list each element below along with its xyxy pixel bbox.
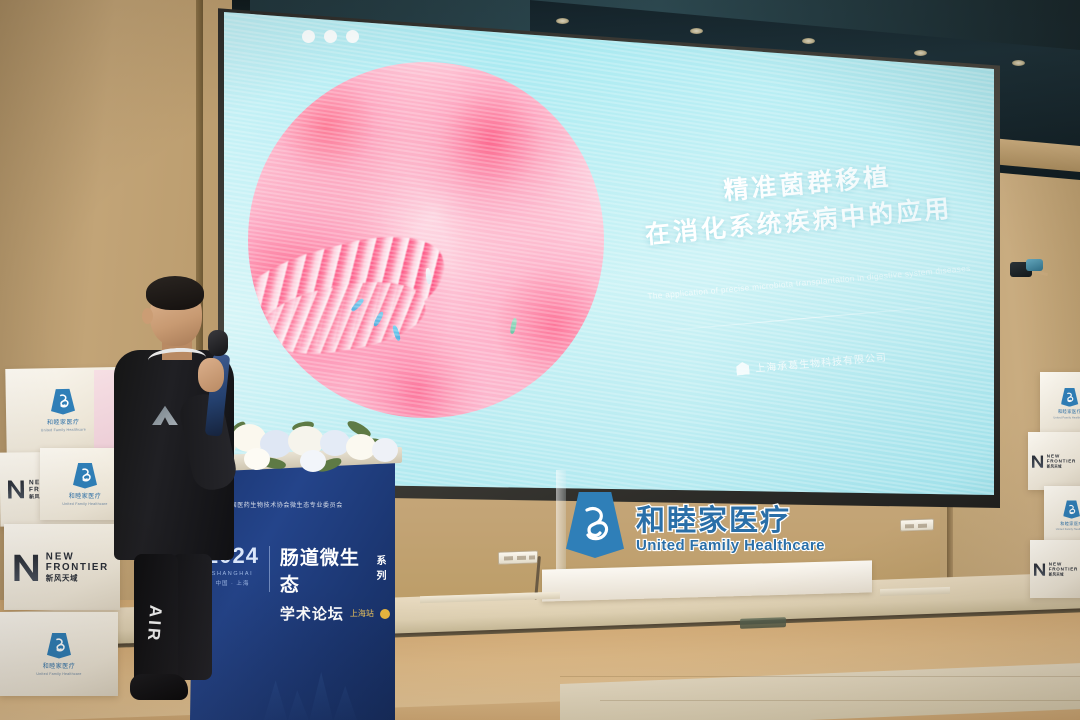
united-family-box-label: 和睦家医疗 United Family Healthcare xyxy=(36,633,81,676)
wall-outlet-icon[interactable] xyxy=(900,518,934,531)
new-frontier-box-label: NEW FRONTIER 新风天域 xyxy=(1032,454,1076,469)
ceiling-downlight-icon xyxy=(1012,60,1025,66)
box-line3: 新风天域 xyxy=(1047,463,1076,468)
new-frontier-n-icon xyxy=(15,554,39,581)
united-family-fan-icon xyxy=(51,388,75,414)
box-line2: FRONTIER xyxy=(46,562,109,573)
united-family-signage: 和睦家医疗 United Family Healthcare xyxy=(566,492,825,558)
presenter-hand xyxy=(198,358,224,392)
ceiling-downlight-icon xyxy=(690,28,703,34)
podium-divider xyxy=(269,546,270,592)
new-frontier-n-icon xyxy=(1034,563,1045,576)
product-box: 和睦家医疗 United Family Healthcare xyxy=(0,612,118,696)
flower-shape xyxy=(372,438,398,462)
box-title-cn: 和睦家医疗 xyxy=(1058,408,1080,414)
podium-accent-dot xyxy=(380,609,390,619)
ceiling-downlight-icon xyxy=(556,18,569,24)
box-line1: NEW xyxy=(46,551,109,562)
united-family-fan-icon xyxy=(1064,500,1080,518)
united-family-fan-icon xyxy=(566,492,624,558)
box-title-cn: 和睦家医疗 xyxy=(69,491,102,500)
signage-text: 和睦家医疗 United Family Healthcare xyxy=(636,497,825,554)
flower-shape xyxy=(300,450,326,472)
product-box: 和睦家医疗 United Family Healthcare xyxy=(1044,486,1080,544)
product-box: NEW FRONTIER 新风天域 xyxy=(4,524,120,610)
podium-skyline-graphic xyxy=(254,651,374,720)
new-frontier-box-label: NEW FRONTIER 新风天域 xyxy=(15,551,110,583)
box-title-en: United Family Healthcare xyxy=(1056,527,1080,530)
floor-seam xyxy=(560,676,1080,677)
podium-forum-suffix: 系列 xyxy=(376,552,395,582)
signage-title-en: United Family Healthcare xyxy=(636,537,825,554)
product-box: 和睦家医疗 United Family Healthcare xyxy=(1040,372,1080,434)
presenter-shoe xyxy=(130,674,188,700)
security-camera-icon xyxy=(1010,258,1044,280)
product-box: NEW FRONTIER 新风天域 xyxy=(1030,540,1080,598)
box-label-text: NEW FRONTIER 新风天域 xyxy=(1047,454,1076,469)
box-title-en: United Family Healthcare xyxy=(36,672,81,676)
signage-title-cn: 和睦家医疗 xyxy=(636,497,825,539)
presenter-leg-right xyxy=(172,554,212,680)
box-title-cn: 和睦家医疗 xyxy=(47,416,80,426)
presenter-pants-text: AIR xyxy=(133,575,176,673)
box-line1: NEW xyxy=(1049,562,1078,567)
podium-forum-block: 肠道微生态 系列 学术论坛 上海站 xyxy=(280,543,395,624)
product-box: NEW FRONTIER 新风天域 xyxy=(1028,432,1080,490)
new-frontier-box-label: NEW FRONTIER 新风天域 xyxy=(1034,562,1078,577)
united-family-box-label: 和睦家医疗 United Family Healthcare xyxy=(1054,388,1080,419)
united-family-box-label: 和睦家医疗 United Family Healthcare xyxy=(1056,500,1080,530)
presenter-ear xyxy=(142,308,153,324)
united-family-box-label: 和睦家医疗 United Family Healthcare xyxy=(40,388,86,432)
wall-outlet-icon[interactable] xyxy=(498,550,538,564)
box-title-en: United Family Healthcare xyxy=(62,502,107,506)
box-label-text: NEW FRONTIER 新风天域 xyxy=(1049,562,1078,577)
box-title-en: United Family Healthcare xyxy=(1054,416,1080,419)
signage-glass-panel xyxy=(556,470,566,570)
box-line3: 新风天域 xyxy=(1049,571,1078,576)
box-title-en: United Family Healthcare xyxy=(41,427,86,432)
united-family-fan-icon xyxy=(47,633,71,659)
presenter-hair xyxy=(146,276,204,310)
ceiling-downlight-icon xyxy=(914,50,927,56)
floor-vent-icon xyxy=(740,617,786,629)
box-line2: FRONTIER xyxy=(1049,567,1078,572)
conference-photo-scene: TreatGut 未来医疗 精准菌群移植 在消化系统疾病中的应用 The app… xyxy=(0,0,1080,720)
flower-shape xyxy=(244,448,270,470)
podium-forum-stop: 上海站 xyxy=(350,608,374,619)
box-line2: FRONTIER xyxy=(1047,459,1076,464)
ceiling-downlight-icon xyxy=(802,38,815,44)
new-frontier-n-icon xyxy=(1032,455,1043,468)
new-frontier-n-icon xyxy=(8,480,24,498)
podium-forum-sub: 学术论坛 xyxy=(280,603,344,624)
floor-seam xyxy=(600,700,1080,701)
box-title-cn: 和睦家医疗 xyxy=(43,661,76,670)
united-family-fan-icon xyxy=(73,463,97,489)
box-line3: 新风天域 xyxy=(46,572,109,583)
box-line1: NEW xyxy=(1047,454,1076,459)
box-label-text: NEW FRONTIER 新风天域 xyxy=(46,551,109,583)
podium-forum-main: 肠道微生态 xyxy=(280,543,373,597)
microphone-head xyxy=(208,330,228,356)
united-family-box-label: 和睦家医疗 United Family Healthcare xyxy=(62,463,107,506)
presenter: AIR xyxy=(112,276,242,706)
united-family-fan-icon xyxy=(1061,388,1078,407)
box-title-cn: 和睦家医疗 xyxy=(1061,520,1080,526)
